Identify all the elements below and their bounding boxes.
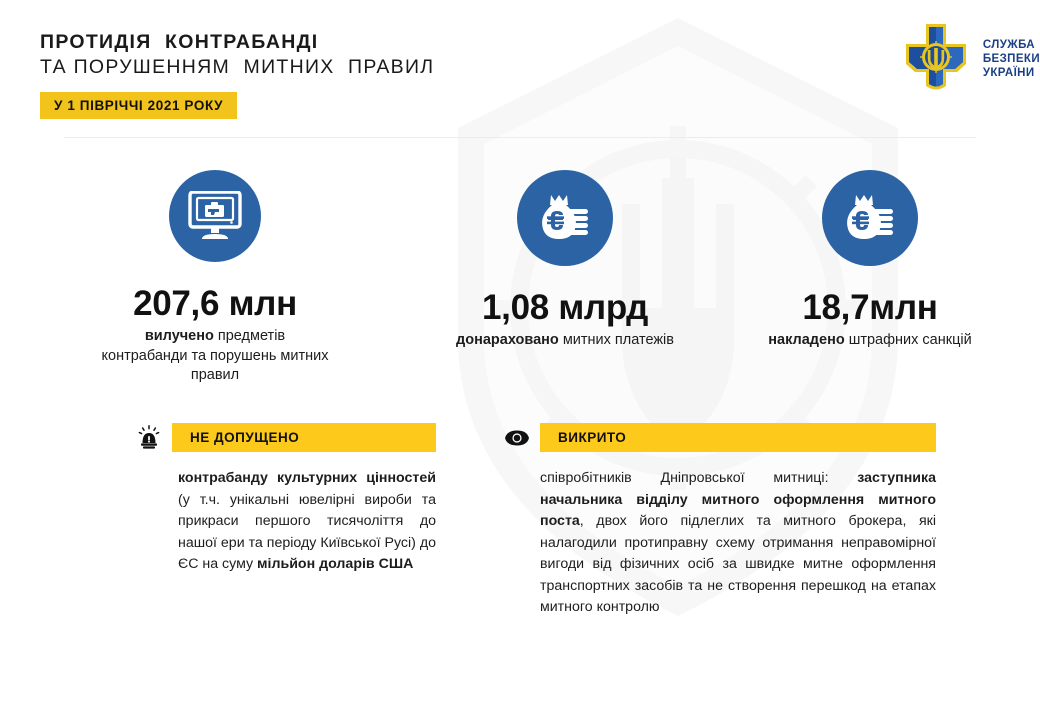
panel-badge-label: НЕ ДОПУЩЕНО: [190, 430, 299, 445]
panel-body-text: співробітників Дніпровської митниці: зас…: [540, 468, 936, 619]
stat-value: 207,6 млн: [133, 284, 297, 324]
infographic-page: ПРОТИДІЯ КОНТРАБАНДІ ТА ПОРУШЕННЯМ МИТНИ…: [0, 0, 1040, 720]
stat-description: накладено штрафних санкцій: [768, 331, 971, 351]
panel-header: ВИКРИТО: [504, 423, 936, 452]
money-bag-hryvnia-icon: [842, 192, 898, 244]
stat-description-bold: донараховано: [456, 332, 559, 348]
sbu-logo: СЛУЖБА БЕЗПЕКИ УКРАЇНИ: [897, 22, 1040, 94]
logo-line-2: БЕЗПЕКИ: [983, 52, 1040, 66]
xray-scanner-monitor-icon: [188, 191, 242, 241]
stat-description-rest: митних платежів: [559, 332, 674, 348]
sbu-emblem-icon: [897, 22, 975, 94]
stat-description-bold: вилучено: [145, 328, 214, 344]
panel-body-text: контрабанду культурних цінностей (у т.ч.…: [178, 468, 436, 576]
page-header: ПРОТИДІЯ КОНТРАБАНДІ ТА ПОРУШЕННЯМ МИТНИ…: [0, 0, 1040, 130]
stat-description-bold: накладено: [768, 332, 844, 348]
stat-description: вилучено предметів контрабанди та поруше…: [100, 327, 330, 386]
stat-description-rest: предметів контрабанди та порушень митних…: [102, 328, 329, 383]
page-title-line2: ТА ПОРУШЕННЯМ МИТНИХ ПРАВИЛ: [40, 55, 434, 80]
stat-value: 18,7млн: [802, 288, 937, 328]
title-block: ПРОТИДІЯ КОНТРАБАНДІ ТА ПОРУШЕННЯМ МИТНИ…: [40, 30, 434, 80]
panel-not-allowed: НЕ ДОПУЩЕНО контрабанду культурних цінно…: [136, 423, 436, 576]
panel-exposed: ВИКРИТО співробітників Дніпровської митн…: [504, 423, 936, 619]
stat-description-rest: штрафних санкцій: [845, 332, 972, 348]
stat-description: донараховано митних платежів: [456, 331, 674, 351]
period-badge: У 1 ПІВРІЧЧІ 2021 РОКУ: [40, 92, 237, 119]
logo-line-1: СЛУЖБА: [983, 38, 1040, 52]
eye-icon: [504, 425, 530, 451]
panel-header: НЕ ДОПУЩЕНО: [136, 423, 436, 452]
money-bag-hryvnia-icon: [537, 192, 593, 244]
panel-badge: НЕ ДОПУЩЕНО: [172, 423, 436, 452]
statistics-row: 207,6 млн вилучено предметів контрабанди…: [0, 170, 1040, 386]
stat-value: 1,08 млрд: [482, 288, 648, 328]
page-title-line1: ПРОТИДІЯ КОНТРАБАНДІ: [40, 30, 434, 55]
logo-line-3: УКРАЇНИ: [983, 66, 1040, 80]
header-divider: [64, 137, 976, 138]
stat-card-assessed: 1,08 млрд донараховано митних платежів: [430, 170, 700, 386]
stat-card-seized: 207,6 млн вилучено предметів контрабанди…: [0, 170, 430, 386]
stat-card-fines: 18,7млн накладено штрафних санкцій: [700, 170, 1040, 386]
logo-text-block: СЛУЖБА БЕЗПЕКИ УКРАЇНИ: [983, 36, 1040, 80]
siren-alarm-icon: [136, 425, 162, 451]
panel-badge: ВИКРИТО: [540, 423, 936, 452]
panel-badge-label: ВИКРИТО: [558, 430, 626, 445]
stat-icon-wrapper: [517, 170, 613, 266]
stat-icon-wrapper: [822, 170, 918, 266]
stat-icon-wrapper: [169, 170, 261, 262]
